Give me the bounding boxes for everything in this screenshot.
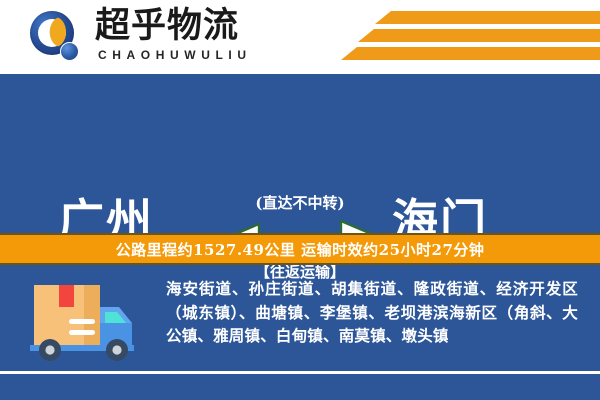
route-note-direct: (直达不中转) (0, 192, 600, 213)
coverage-section: 海安街道、孙庄街道、胡集街道、隆政街道、经济开发区（城东镇）、曲塘镇、李堡镇、老… (0, 265, 600, 371)
logistics-route-banner: 超乎物流 CHAOHUWULIU 广州 (直达不中转) 【往返运输】 海门 公路… (0, 0, 600, 400)
brand-name-cn: 超乎物流 (95, 6, 239, 46)
coverage-areas-text: 海安街道、孙庄街道、胡集街道、隆政街道、经济开发区（城东镇）、曲塘镇、李堡镇、老… (166, 277, 578, 348)
footer-bar (0, 374, 600, 400)
header-stripe-1 (375, 11, 600, 24)
header-bar: 超乎物流 CHAOHUWULIU (0, 0, 600, 74)
route-section: 广州 (直达不中转) 【往返运输】 海门 (0, 74, 600, 233)
delivery-truck-icon (22, 277, 142, 363)
circle-crescent-logo-icon (30, 11, 82, 63)
logo-small-circle (60, 42, 79, 61)
brand-name-en: CHAOHUWULIU (98, 48, 252, 62)
distance-duration-band: 公路里程约1527.49公里 运输时效约25小时27分钟 (0, 233, 600, 265)
header-stripe-3 (341, 47, 600, 60)
distance-duration-text: 公路里程约1527.49公里 运输时效约25小时27分钟 (116, 239, 485, 260)
header-stripe-2 (358, 29, 600, 42)
